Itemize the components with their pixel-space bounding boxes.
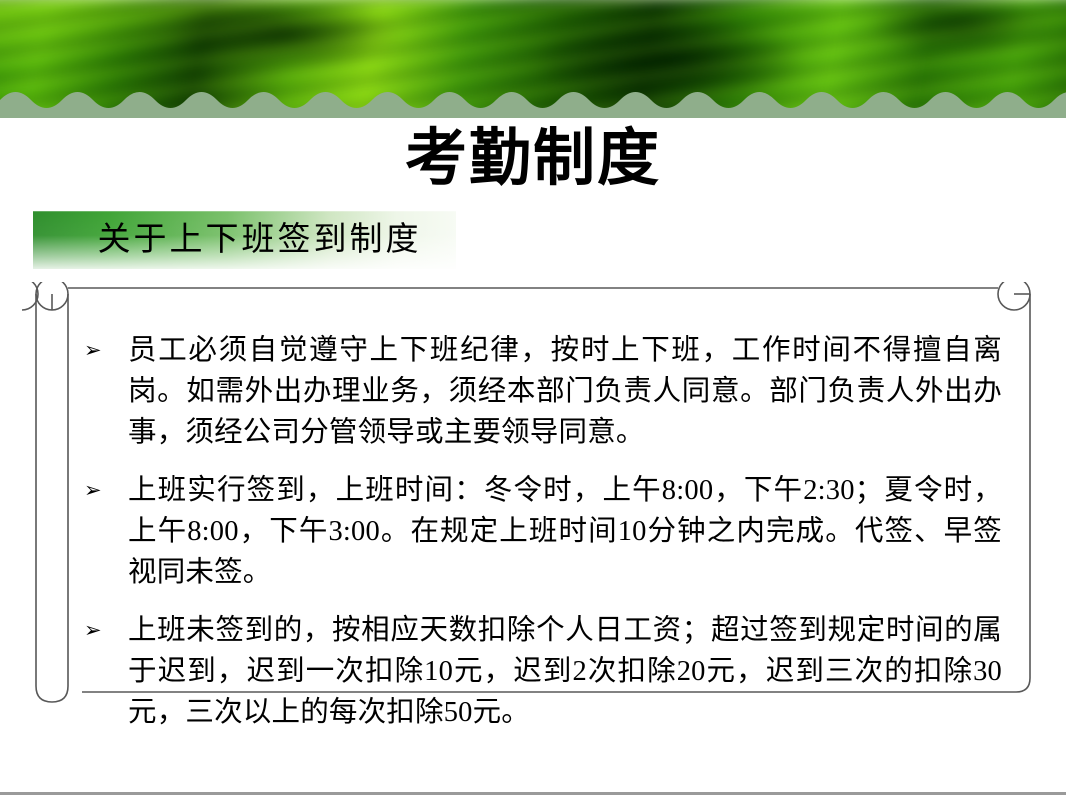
list-item: ➢ 上班未签到的，按相应天数扣除个人日工资；超过签到规定时间的属于迟到，迟到一次… (72, 610, 1002, 733)
subtitle-text: 关于上下班签到制度 (33, 211, 456, 269)
bullet-arrow-icon: ➢ (72, 610, 128, 651)
slide-canvas: 考勤制度 关于上下班签到制度 (0, 0, 1066, 796)
bottom-page-rule (0, 792, 1066, 795)
list-item-text: 上班未签到的，按相应天数扣除个人日工资；超过签到规定时间的属于迟到，迟到一次扣除… (128, 610, 1002, 733)
bullet-arrow-icon: ➢ (72, 330, 128, 371)
header-leaf-banner (0, 0, 1066, 118)
list-item: ➢ 员工必须自觉遵守上下班纪律，按时上下班，工作时间不得擅自离岗。如需外出办理业… (72, 330, 1002, 453)
subtitle-banner: 关于上下班签到制度 (33, 211, 456, 269)
list-item-text: 上班实行签到，上班时间：冬令时，上午8:00，下午2:30；夏令时，上午8:00… (128, 470, 1002, 593)
slide-title: 考勤制度 (0, 122, 1066, 194)
list-item: ➢ 上班实行签到，上班时间：冬令时，上午8:00，下午2:30；夏令时，上午8:… (72, 470, 1002, 593)
content-bullet-list: ➢ 员工必须自觉遵守上下班纪律，按时上下班，工作时间不得擅自离岗。如需外出办理业… (72, 330, 1002, 750)
scalloped-band (0, 78, 1066, 118)
bullet-arrow-icon: ➢ (72, 470, 128, 511)
list-item-text: 员工必须自觉遵守上下班纪律，按时上下班，工作时间不得擅自离岗。如需外出办理业务，… (128, 330, 1002, 453)
